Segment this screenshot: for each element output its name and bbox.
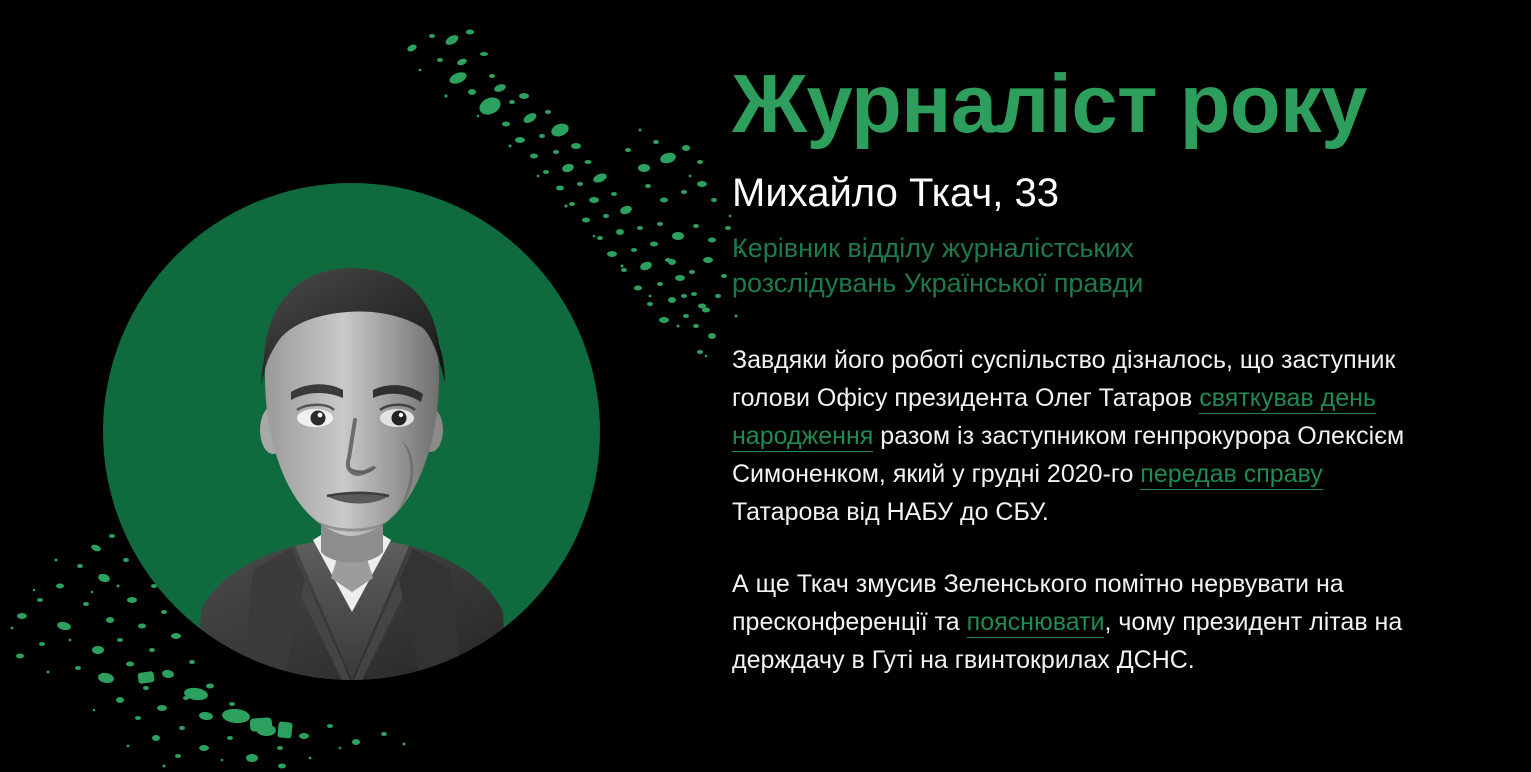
- bio-link[interactable]: передав справу: [1140, 460, 1323, 490]
- bio-link[interactable]: пояснювати: [967, 608, 1105, 638]
- bio-text: Завдяки його роботі суспільство дізналос…: [732, 341, 1462, 679]
- portrait-photo: [187, 240, 517, 680]
- text-column: Журналіст року Михайло Ткач, 33 Керівник…: [732, 62, 1462, 679]
- award-card: Журналіст року Михайло Ткач, 33 Керівник…: [0, 0, 1531, 772]
- person-name: Михайло Ткач, 33: [732, 171, 1462, 216]
- bio-paragraph: Завдяки його роботі суспільство дізналос…: [732, 341, 1412, 531]
- bio-paragraph: А ще Ткач змусив Зеленського помітно нер…: [732, 565, 1412, 679]
- avatar: [103, 183, 600, 680]
- bio-text-segment: Татарова від НАБУ до СБУ.: [732, 498, 1049, 526]
- award-title: Журналіст року: [732, 62, 1462, 147]
- person-role: Керівник відділу журналістських розсліду…: [732, 231, 1252, 300]
